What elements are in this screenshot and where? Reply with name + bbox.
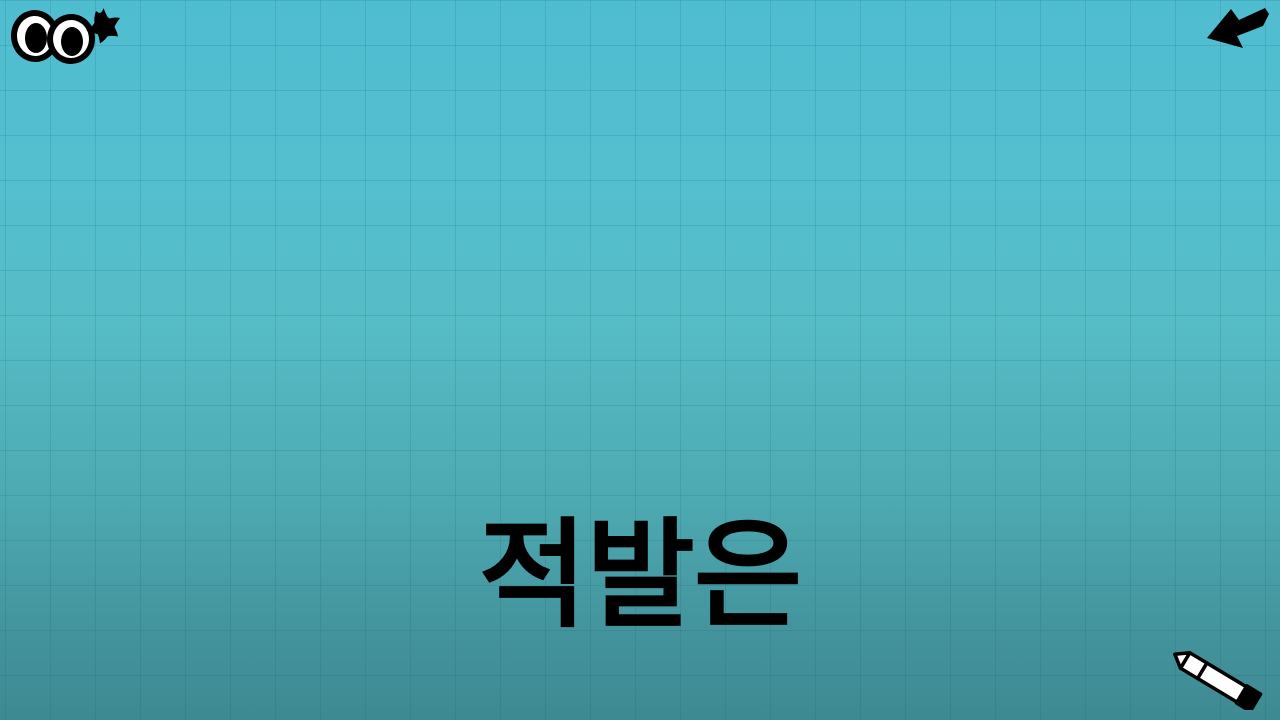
- pupil-left-icon: [25, 23, 47, 53]
- arrow-cursor-icon: [1203, 2, 1273, 50]
- star-icon: [83, 6, 123, 46]
- headline: 적발은 어떻게 이루어지나: [0, 196, 1280, 720]
- pupil-right-icon: [61, 27, 83, 56]
- slide-canvas: 적발은 어떻게 이루어지나: [0, 0, 1280, 720]
- headline-line-1: 적발은: [0, 500, 1280, 652]
